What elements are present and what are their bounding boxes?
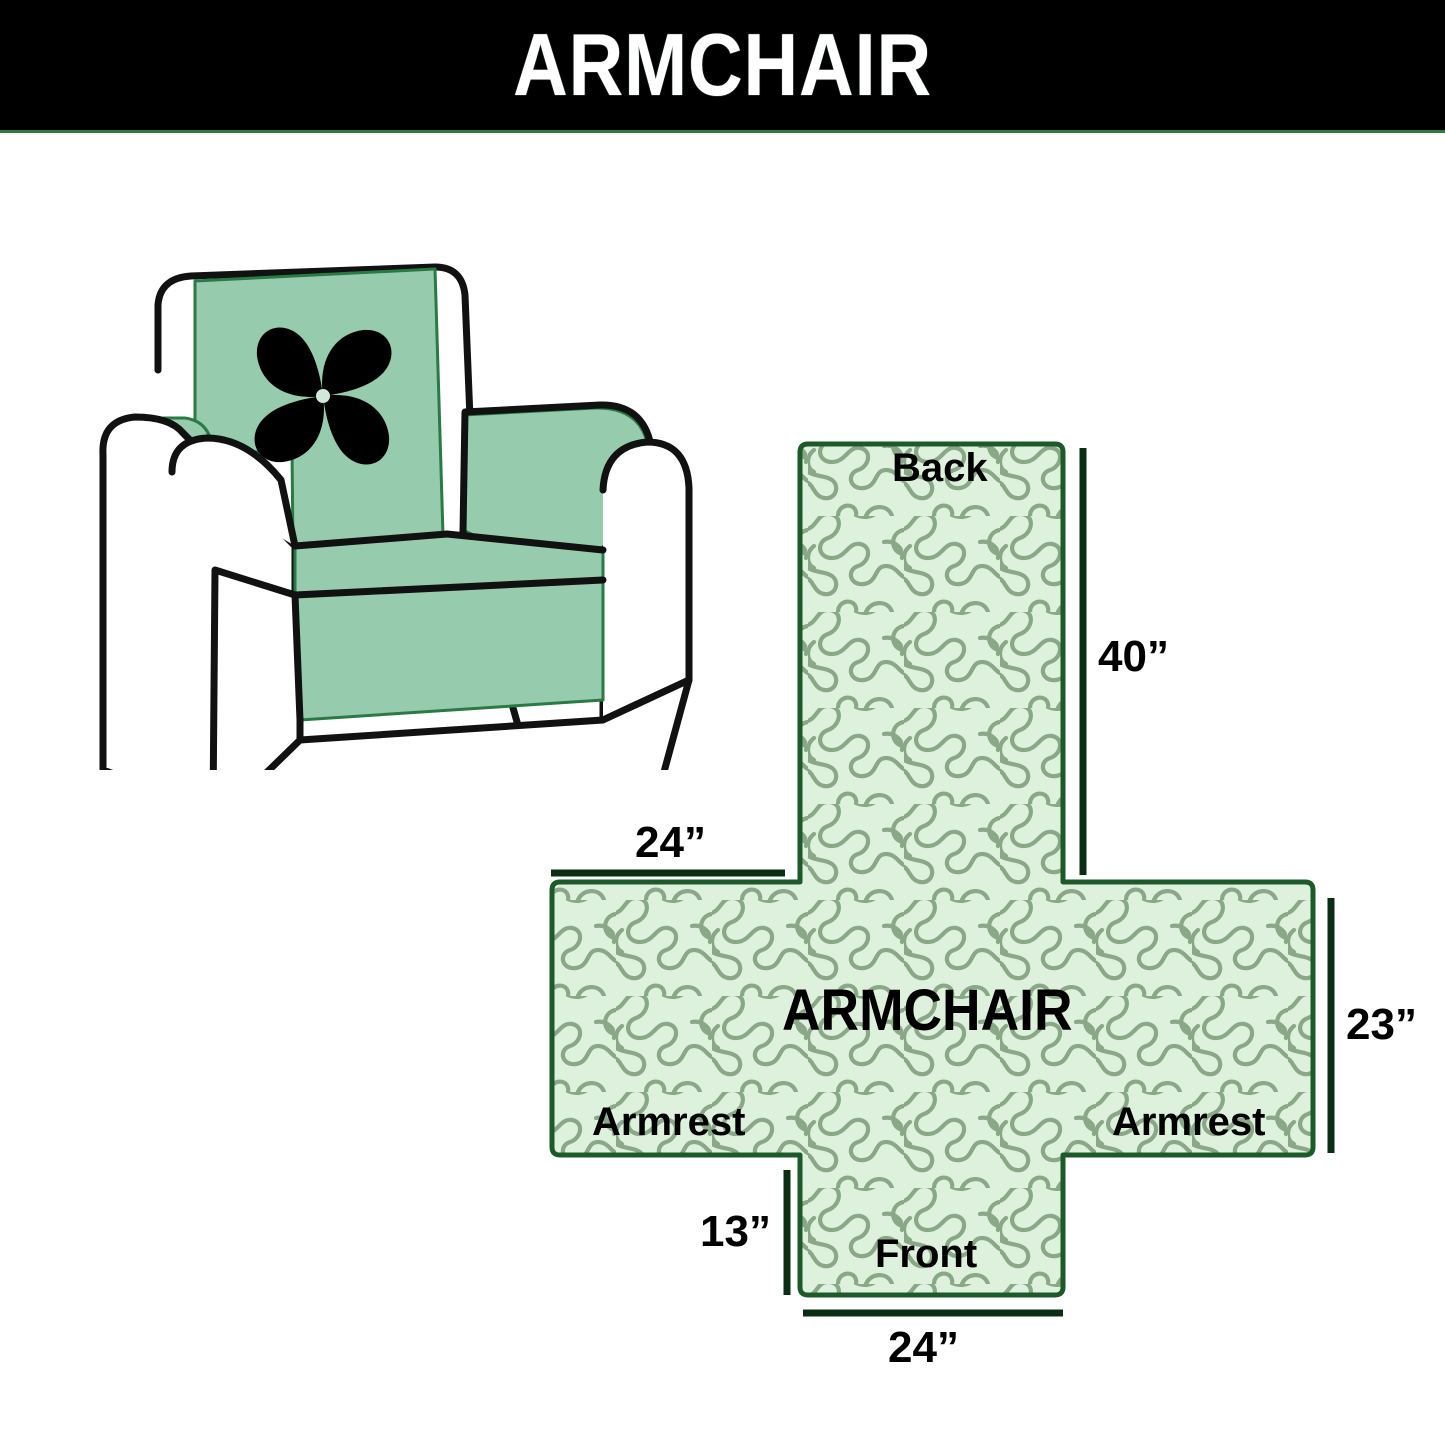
armchair-slipcover-infographic: ARMCHAIR [0, 0, 1445, 1445]
dimension-label-front-height: 13” [700, 1207, 771, 1257]
dimension-label-back-width: 24” [635, 818, 706, 868]
panel-label-back: Back [892, 446, 988, 491]
dimension-label-front-width: 24” [888, 1323, 959, 1373]
chair-base-left [213, 570, 300, 770]
panel-label-armrest-right: Armrest [1112, 1100, 1265, 1145]
panel-label-center: ARMCHAIR [782, 977, 1072, 1044]
dimension-label-armrest-depth: 23” [1346, 1000, 1417, 1050]
header-accent-line [0, 130, 1445, 133]
page-title: ARMCHAIR [513, 14, 932, 116]
panel-label-front: Front [875, 1232, 977, 1277]
slipcover-pattern-diagram: Back ARMCHAIR Armrest Armrest Front 40” … [520, 420, 1445, 1420]
panel-label-armrest-left: Armrest [592, 1100, 745, 1145]
fan-hub [316, 389, 330, 403]
header-banner: ARMCHAIR [0, 0, 1445, 130]
dimension-label-back-height: 40” [1098, 632, 1169, 682]
